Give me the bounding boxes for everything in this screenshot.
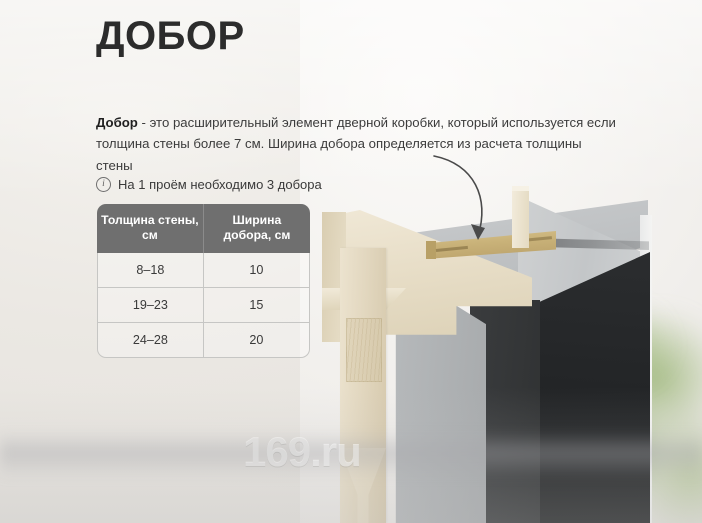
description-body: это расширительный элемент дверной короб… xyxy=(96,115,616,173)
info-note: i На 1 проём необходимо 3 добора xyxy=(96,177,322,192)
description-term: Добор xyxy=(96,115,138,130)
dobor-extension-strip-end xyxy=(426,241,436,259)
cell-width: 10 xyxy=(204,253,310,288)
info-circle-icon: i xyxy=(96,177,111,192)
table-header-width: Ширина добора, см xyxy=(204,204,310,253)
table-header-row: Толщина стены, см Ширина добора, см xyxy=(97,204,310,253)
cell-width: 20 xyxy=(204,323,310,358)
door-jamb-texture-patch xyxy=(346,318,382,382)
table-row: 8–18 10 xyxy=(97,253,310,288)
spec-table-body: 8–18 10 19–23 15 24–28 20 xyxy=(97,253,310,358)
page-title: ДОБОР xyxy=(96,14,245,58)
door-frame-right-post xyxy=(512,188,529,248)
door-frame-photo xyxy=(300,0,702,523)
spec-table: Толщина стены, см Ширина добора, см 8–18… xyxy=(97,204,310,358)
table-header-thickness: Толщина стены, см xyxy=(97,204,204,253)
infographic-poster: 169.ru ДОБОР Добор - это расширительный … xyxy=(0,0,702,523)
cell-width: 15 xyxy=(204,288,310,323)
cell-thickness: 24–28 xyxy=(97,323,204,358)
description-paragraph: Добор - это расширительный элемент дверн… xyxy=(96,112,618,176)
spec-table-head: Толщина стены, см Ширина добора, см xyxy=(97,204,310,253)
info-note-text: На 1 проём необходимо 3 добора xyxy=(118,177,322,192)
description-dash: - xyxy=(138,115,150,130)
table-row: 24–28 20 xyxy=(97,323,310,358)
cell-thickness: 8–18 xyxy=(97,253,204,288)
table-row: 19–23 15 xyxy=(97,288,310,323)
door-frame-right-post-top xyxy=(512,186,529,191)
cell-thickness: 19–23 xyxy=(97,288,204,323)
